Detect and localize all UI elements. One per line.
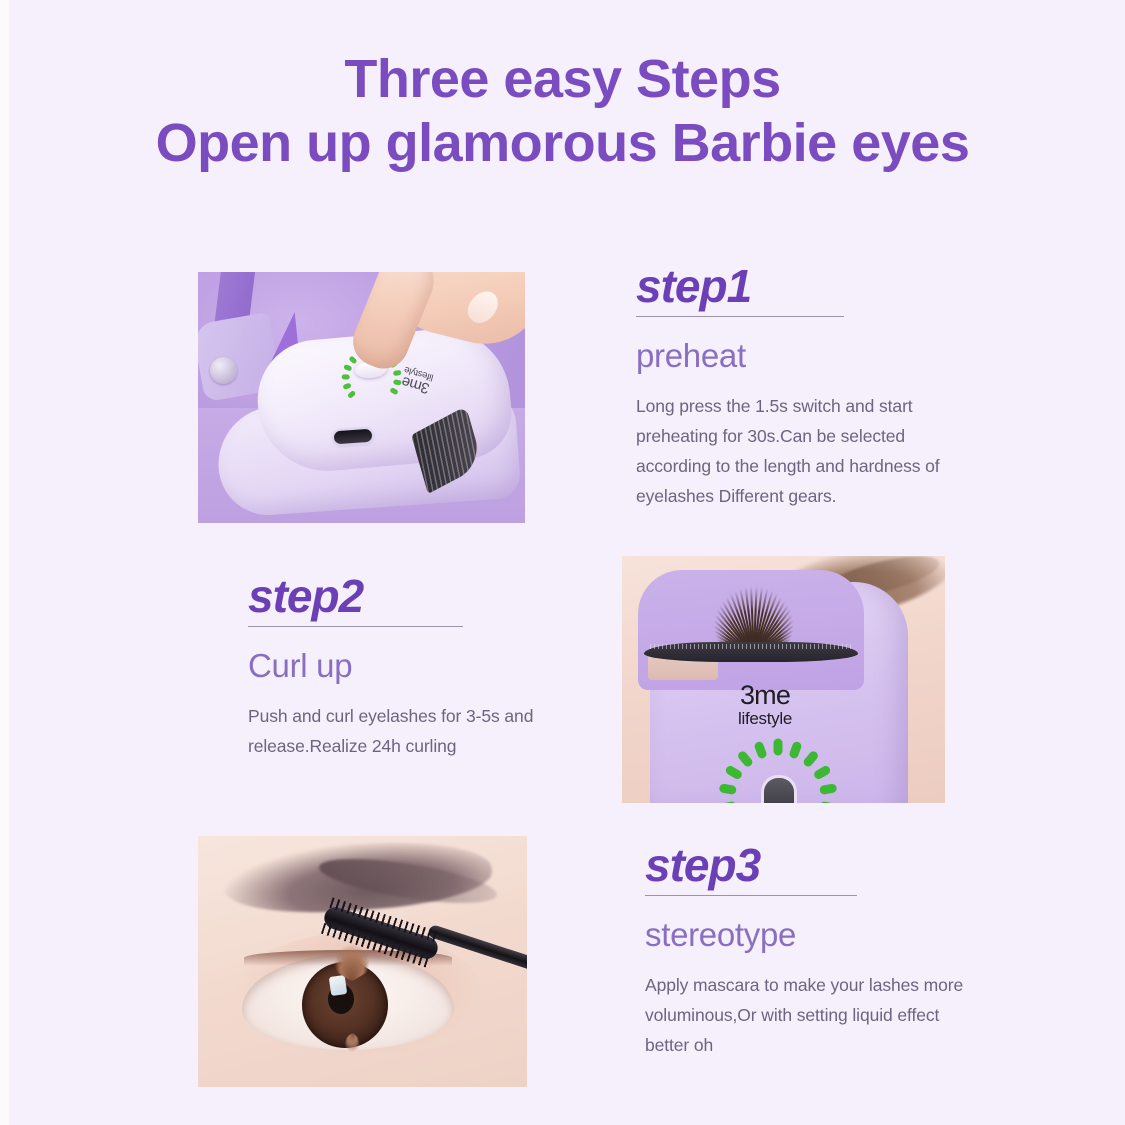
infographic-canvas: Three easy Steps Open up glamorous Barbi… — [0, 0, 1125, 1125]
led-indicator-arc — [740, 752, 816, 802]
step-3-description: Apply mascara to make your lashes more v… — [645, 970, 980, 1060]
curler-hinge-knob — [210, 357, 237, 384]
step-2-text-block: step2 Curl up Push and curl eyelashes fo… — [248, 572, 548, 761]
step-3-divider — [645, 895, 857, 896]
step-1-label: step1 — [636, 262, 956, 310]
photo-step3-eye — [198, 836, 527, 1087]
step-1-description: Long press the 1.5s switch and start pre… — [636, 391, 956, 511]
power-button — [764, 778, 794, 803]
step-3-text-block: step3 stereotype Apply mascara to make y… — [645, 841, 980, 1060]
photo-step2-lashes: 3me lifestyle — [622, 556, 945, 803]
usb-c-port-icon — [334, 429, 373, 445]
step-3-label: step3 — [645, 841, 980, 889]
step-2-divider — [248, 626, 463, 627]
step-2-title: Curl up — [248, 648, 548, 684]
step-2-description: Push and curl eyelashes for 3-5s and rel… — [248, 701, 548, 761]
curler-clamp-bar — [644, 642, 858, 662]
headline-line-2: Open up glamorous Barbie eyes — [0, 112, 1125, 176]
page-title: Three easy Steps Open up glamorous Barbi… — [0, 48, 1125, 175]
step-2-label: step2 — [248, 572, 548, 620]
led-segment — [348, 356, 357, 365]
headline-line-1: Three easy Steps — [0, 48, 1125, 112]
step-1-text-block: step1 preheat Long press the 1.5s switch… — [636, 262, 956, 511]
step-1-title: preheat — [636, 338, 956, 374]
led-segment — [774, 739, 783, 756]
watermark-lashes: 3me lifestyle — [738, 682, 792, 727]
lower-eyelashes — [262, 1034, 442, 1068]
photo-step1-device: 3me lifestyle — [198, 272, 525, 523]
led-segment — [343, 364, 352, 371]
step-1-divider — [636, 316, 844, 317]
step-3-title: stereotype — [645, 917, 980, 953]
led-segment — [342, 375, 350, 380]
